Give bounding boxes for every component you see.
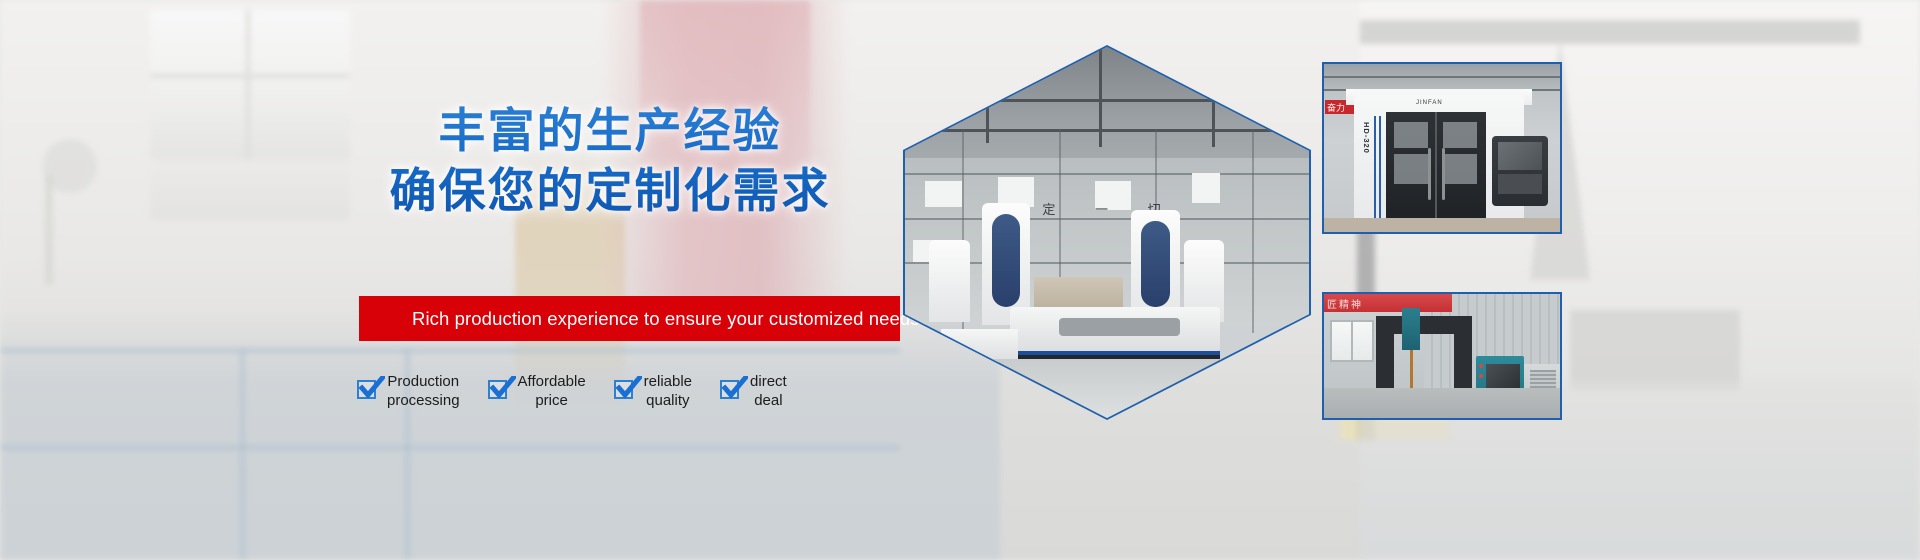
cnc-stripe-1 <box>1374 116 1376 220</box>
feature-item-reliable-quality[interactable]: reliable quality <box>614 372 692 410</box>
gantry-window-split <box>1351 320 1353 362</box>
cnc-brand-label: JINFAN <box>1416 100 1443 106</box>
checkbox-checked-icon <box>357 380 376 399</box>
cnc-door-handle-left[interactable] <box>1428 148 1431 200</box>
gantry-spindle-head <box>1402 308 1420 350</box>
background-window-lower <box>150 160 350 220</box>
cnc-door-window-left-lower <box>1394 154 1428 184</box>
cnc-door-split <box>1435 112 1437 220</box>
hero-banner: 丰富的生产经验 确保您的定制化需求 Rich production experi… <box>0 0 1920 560</box>
product-photo-cnc-machining-center[interactable]: 奋力 HD-320 JINFAN <box>1322 62 1562 234</box>
cnc-floor <box>1324 218 1560 232</box>
feature-item-production-processing[interactable]: Production processing <box>357 372 460 410</box>
cnc-screen <box>1498 142 1542 170</box>
hexagon-border: 定 一 切 <box>903 45 1311 420</box>
wall-banner-text: 奋力 <box>1327 101 1345 114</box>
background-rail-1 <box>0 348 900 353</box>
machine-bed-window <box>1059 318 1180 337</box>
cnc-model-label: HD-320 <box>1362 122 1371 154</box>
headline-line-2: 确保您的定制化需求 <box>330 162 890 222</box>
gantry-button-red-1[interactable] <box>1479 364 1483 368</box>
hexagon-image-inner: 定 一 切 <box>905 47 1309 418</box>
machine-panel-blue-right <box>1141 221 1169 306</box>
hexagon-photo[interactable]: 定 一 切 <box>903 45 1311 420</box>
factory-window-1 <box>925 181 961 207</box>
checkbox-checked-icon <box>488 380 507 399</box>
gantry-button-red-2[interactable] <box>1479 374 1483 378</box>
headline-line-1: 丰富的生产经验 <box>439 104 782 159</box>
subtitle-text: Rich production experience to ensure you… <box>359 308 920 330</box>
feature-label: direct deal <box>750 372 787 410</box>
cnc-door-window-right <box>1443 122 1477 148</box>
feature-item-direct-deal[interactable]: direct deal <box>720 372 787 410</box>
machine-base-left <box>941 362 1018 392</box>
cnc-stripe-2 <box>1379 116 1381 220</box>
background-lamp-pole <box>45 175 53 285</box>
factory-roof-beam-1 <box>905 99 1309 102</box>
feature-label: Production processing <box>387 372 460 410</box>
factory-roof-strut-3 <box>1212 66 1215 148</box>
gantry-screen <box>1486 364 1520 388</box>
factory-roof-strut-2 <box>1099 47 1102 147</box>
cnc-door-window-left <box>1394 122 1428 148</box>
background-beam <box>1360 20 1860 44</box>
feature-list: Production processing Affordable price r… <box>357 372 917 424</box>
factory-wall-post-4 <box>1252 129 1254 333</box>
machine-table-left <box>941 329 1018 362</box>
feature-item-affordable-price[interactable]: Affordable price <box>488 372 586 410</box>
background-pillar-1 <box>240 348 245 560</box>
factory-floor <box>905 359 1309 418</box>
background-rail-2 <box>0 445 900 450</box>
feature-label: Affordable price <box>518 372 586 410</box>
cnc-door-window-right-lower <box>1443 154 1477 184</box>
checkbox-checked-icon <box>614 380 633 399</box>
machine-column-left <box>929 240 969 322</box>
gantry-crossbeam <box>1376 316 1472 334</box>
machine-panel-blue-mid <box>992 214 1020 307</box>
background-lamp <box>30 130 110 250</box>
checkbox-checked-icon <box>720 380 739 399</box>
gantry-wall-banner-text: 匠精神 <box>1327 296 1363 311</box>
factory-wall-line-1 <box>905 173 1309 175</box>
cnc-door-handle-right[interactable] <box>1442 148 1445 200</box>
subtitle-bar: Rich production experience to ensure you… <box>359 296 900 341</box>
factory-window-4 <box>1192 173 1220 203</box>
product-photo-gantry-machine[interactable]: 匠精神 <box>1322 292 1562 420</box>
factory-roof-strut-1 <box>986 62 989 144</box>
cnc-keypad[interactable] <box>1498 174 1542 194</box>
factory-roof-beam-2 <box>905 129 1309 132</box>
cnc-ceiling-line-1 <box>1324 76 1560 78</box>
background-block <box>1570 310 1740 390</box>
banner-headline: 丰富的生产经验 确保您的定制化需求 <box>330 102 890 222</box>
gantry-floor <box>1324 388 1560 418</box>
background-window <box>150 10 350 160</box>
feature-label: reliable quality <box>644 372 692 410</box>
